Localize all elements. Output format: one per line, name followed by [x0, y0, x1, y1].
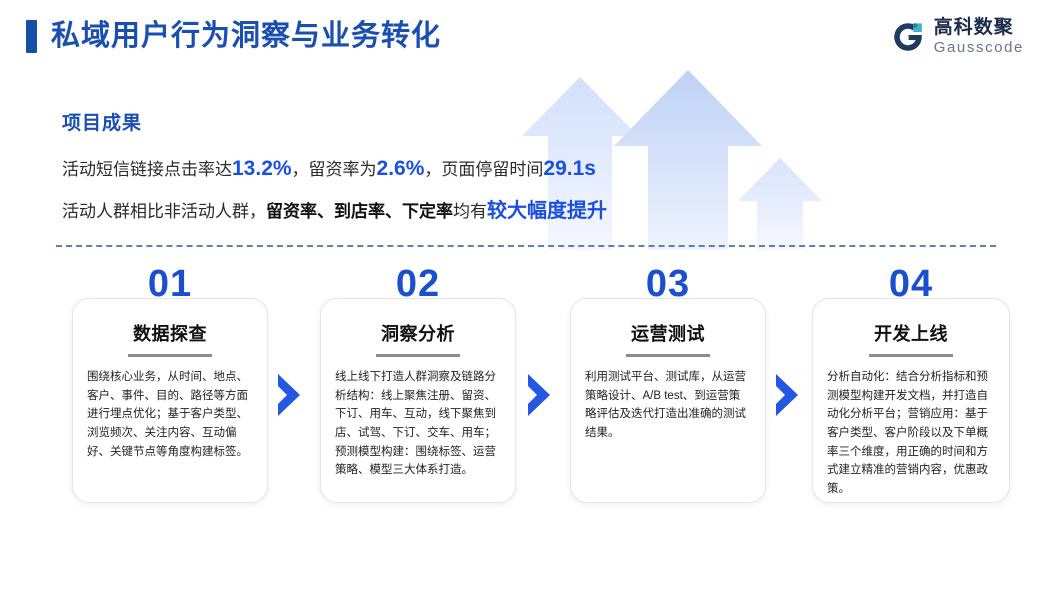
title-accent-bar: [26, 20, 37, 53]
result-line-2: 活动人群相比非活动人群，留资率、到店率、下定率均有较大幅度提升: [62, 200, 902, 222]
step-1-number: 01: [73, 265, 267, 303]
result-line-2-metrics: 留资率、到店率、下定率: [266, 202, 453, 221]
result-line-2-highlight: 较大幅度提升: [487, 200, 607, 222]
step-card-1-body: 01 数据探查 围绕核心业务，从时间、地点、客户、事件、目的、路径等方面进行埋点…: [72, 298, 268, 503]
brand-name-cn: 高科数聚: [934, 18, 1024, 37]
page-title-group: 私域用户行为洞察与业务转化: [26, 20, 441, 53]
step-card-4-body: 04 开发上线 分析自动化：结合分析指标和预测模型构建开发文档，并打造自动化分析…: [812, 298, 1010, 503]
result-line-2-text-2: 均有: [453, 202, 487, 221]
step-4-title: 开发上线: [827, 325, 995, 343]
step-2-number: 02: [321, 265, 515, 303]
chevron-right-icon-1: [274, 374, 306, 421]
result-line-1-text-3: ，页面停留时间: [424, 160, 543, 179]
result-line-1-text-1: 活动短信链接点击率达: [62, 160, 232, 179]
section-divider: [56, 245, 996, 247]
step-card-2-body: 02 洞察分析 线上线下打造人群洞察及链路分析结构：线上聚焦注册、留资、下订、用…: [320, 298, 516, 503]
step-1-description: 围绕核心业务，从时间、地点、客户、事件、目的、路径等方面进行埋点优化；基于客户类…: [87, 368, 253, 461]
step-1-rule: [128, 354, 212, 357]
step-3-number: 03: [571, 265, 765, 303]
step-4-rule: [869, 354, 953, 357]
step-2-title: 洞察分析: [335, 325, 501, 343]
result-line-2-text-1: 活动人群相比非活动人群，: [62, 202, 266, 221]
page-title: 私域用户行为洞察与业务转化: [51, 22, 441, 51]
chevron-right-icon-3: [772, 374, 804, 421]
brand-logo-text: 高科数聚 Gausscode: [934, 18, 1024, 55]
process-steps: 01 数据探查 围绕核心业务，从时间、地点、客户、事件、目的、路径等方面进行埋点…: [0, 268, 1048, 538]
result-ctr-value: 13.2%: [232, 157, 292, 180]
step-3-description: 利用测试平台、测试库，从运营策略设计、A/B test、到运营策略评估及迭代打造…: [585, 368, 751, 443]
step-3-title: 运营测试: [585, 325, 751, 343]
results-section: 项目成果 活动短信链接点击率达13.2%，留资率为2.6%，页面停留时间29.1…: [62, 108, 902, 242]
step-1-title: 数据探查: [87, 325, 253, 343]
step-card-4[interactable]: 04 开发上线 分析自动化：结合分析指标和预测模型构建开发文档，并打造自动化分析…: [812, 298, 1010, 503]
step-card-3-body: 03 运营测试 利用测试平台、测试库，从运营策略设计、A/B test、到运营策…: [570, 298, 766, 503]
step-4-number: 04: [813, 265, 1009, 303]
brand-logo: 高科数聚 Gausscode: [891, 18, 1024, 55]
step-2-rule: [376, 354, 460, 357]
result-line-1: 活动短信链接点击率达13.2%，留资率为2.6%，页面停留时间29.1s: [62, 157, 902, 180]
results-heading: 项目成果: [62, 108, 902, 135]
step-4-description: 分析自动化：结合分析指标和预测模型构建开发文档，并打造自动化分析平台；营销应用：…: [827, 368, 995, 498]
result-lead-rate-value: 2.6%: [377, 157, 425, 180]
page-header: 私域用户行为洞察与业务转化 高科数聚 Gausscode: [0, 0, 1048, 78]
gausscode-g-logo-icon: [891, 20, 925, 54]
brand-name-en: Gausscode: [934, 40, 1024, 55]
result-line-1-text-2: ，留资率为: [292, 160, 377, 179]
step-2-description: 线上线下打造人群洞察及链路分析结构：线上聚焦注册、留资、下订、用车、互动，线下聚…: [335, 368, 501, 480]
result-dwell-time-value: 29.1s: [543, 157, 596, 180]
chevron-right-icon-2: [524, 374, 556, 421]
step-3-rule: [626, 354, 710, 357]
step-card-2[interactable]: 02 洞察分析 线上线下打造人群洞察及链路分析结构：线上聚焦注册、留资、下订、用…: [320, 298, 516, 503]
step-card-3[interactable]: 03 运营测试 利用测试平台、测试库，从运营策略设计、A/B test、到运营策…: [570, 298, 766, 503]
step-card-1[interactable]: 01 数据探查 围绕核心业务，从时间、地点、客户、事件、目的、路径等方面进行埋点…: [72, 298, 268, 503]
